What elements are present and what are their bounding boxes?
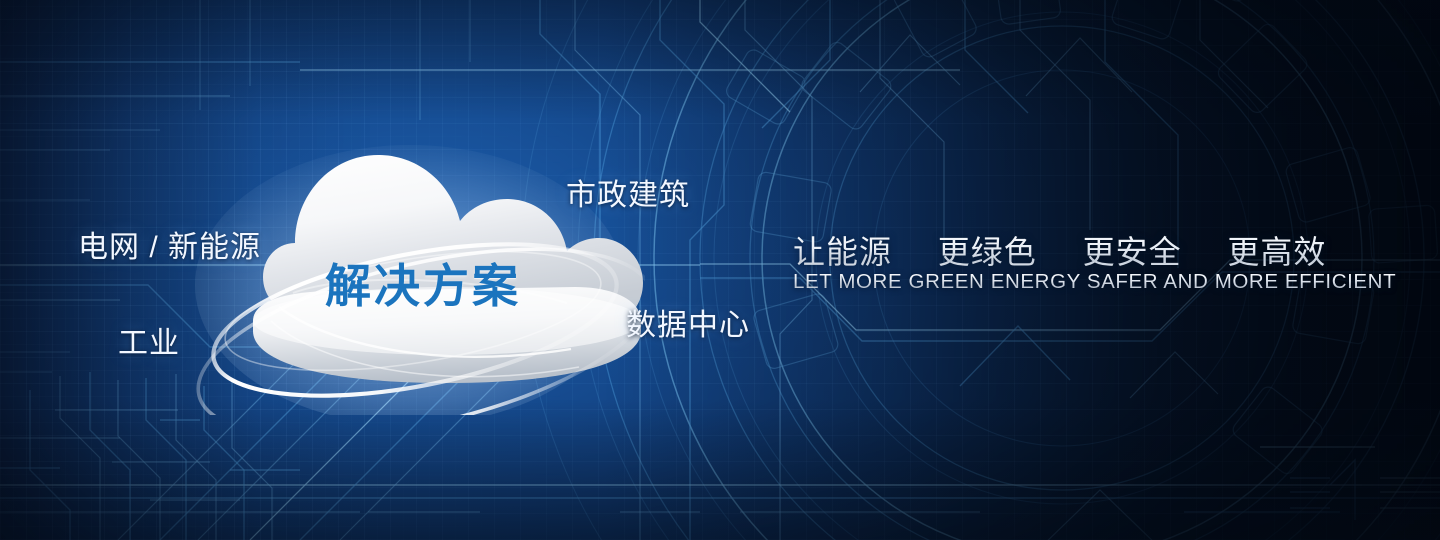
tagline-part-2: 更绿色 bbox=[938, 227, 1037, 273]
label-municipal-building: 市政建筑 bbox=[566, 170, 690, 214]
tagline-chinese: 让能源 更绿色 更安全 更高效 bbox=[793, 227, 1326, 273]
label-grid-new-energy: 电网 / 新能源 bbox=[78, 222, 261, 266]
label-data-center: 数据中心 bbox=[626, 300, 750, 344]
tagline-part-3: 更安全 bbox=[1083, 227, 1182, 273]
label-industry: 工业 bbox=[118, 318, 180, 362]
solution-banner: 解决方案 电网 / 新能源 工业 市政建筑 数据中心 让能源 更绿色 更安全 更… bbox=[0, 0, 1440, 540]
tagline-english: LET MORE GREEN ENERGY SAFER AND MORE EFF… bbox=[793, 270, 1396, 294]
tagline-part-4: 更高效 bbox=[1227, 227, 1326, 273]
tagline-part-1: 让能源 bbox=[793, 227, 892, 273]
page-title: 解决方案 bbox=[325, 250, 521, 316]
